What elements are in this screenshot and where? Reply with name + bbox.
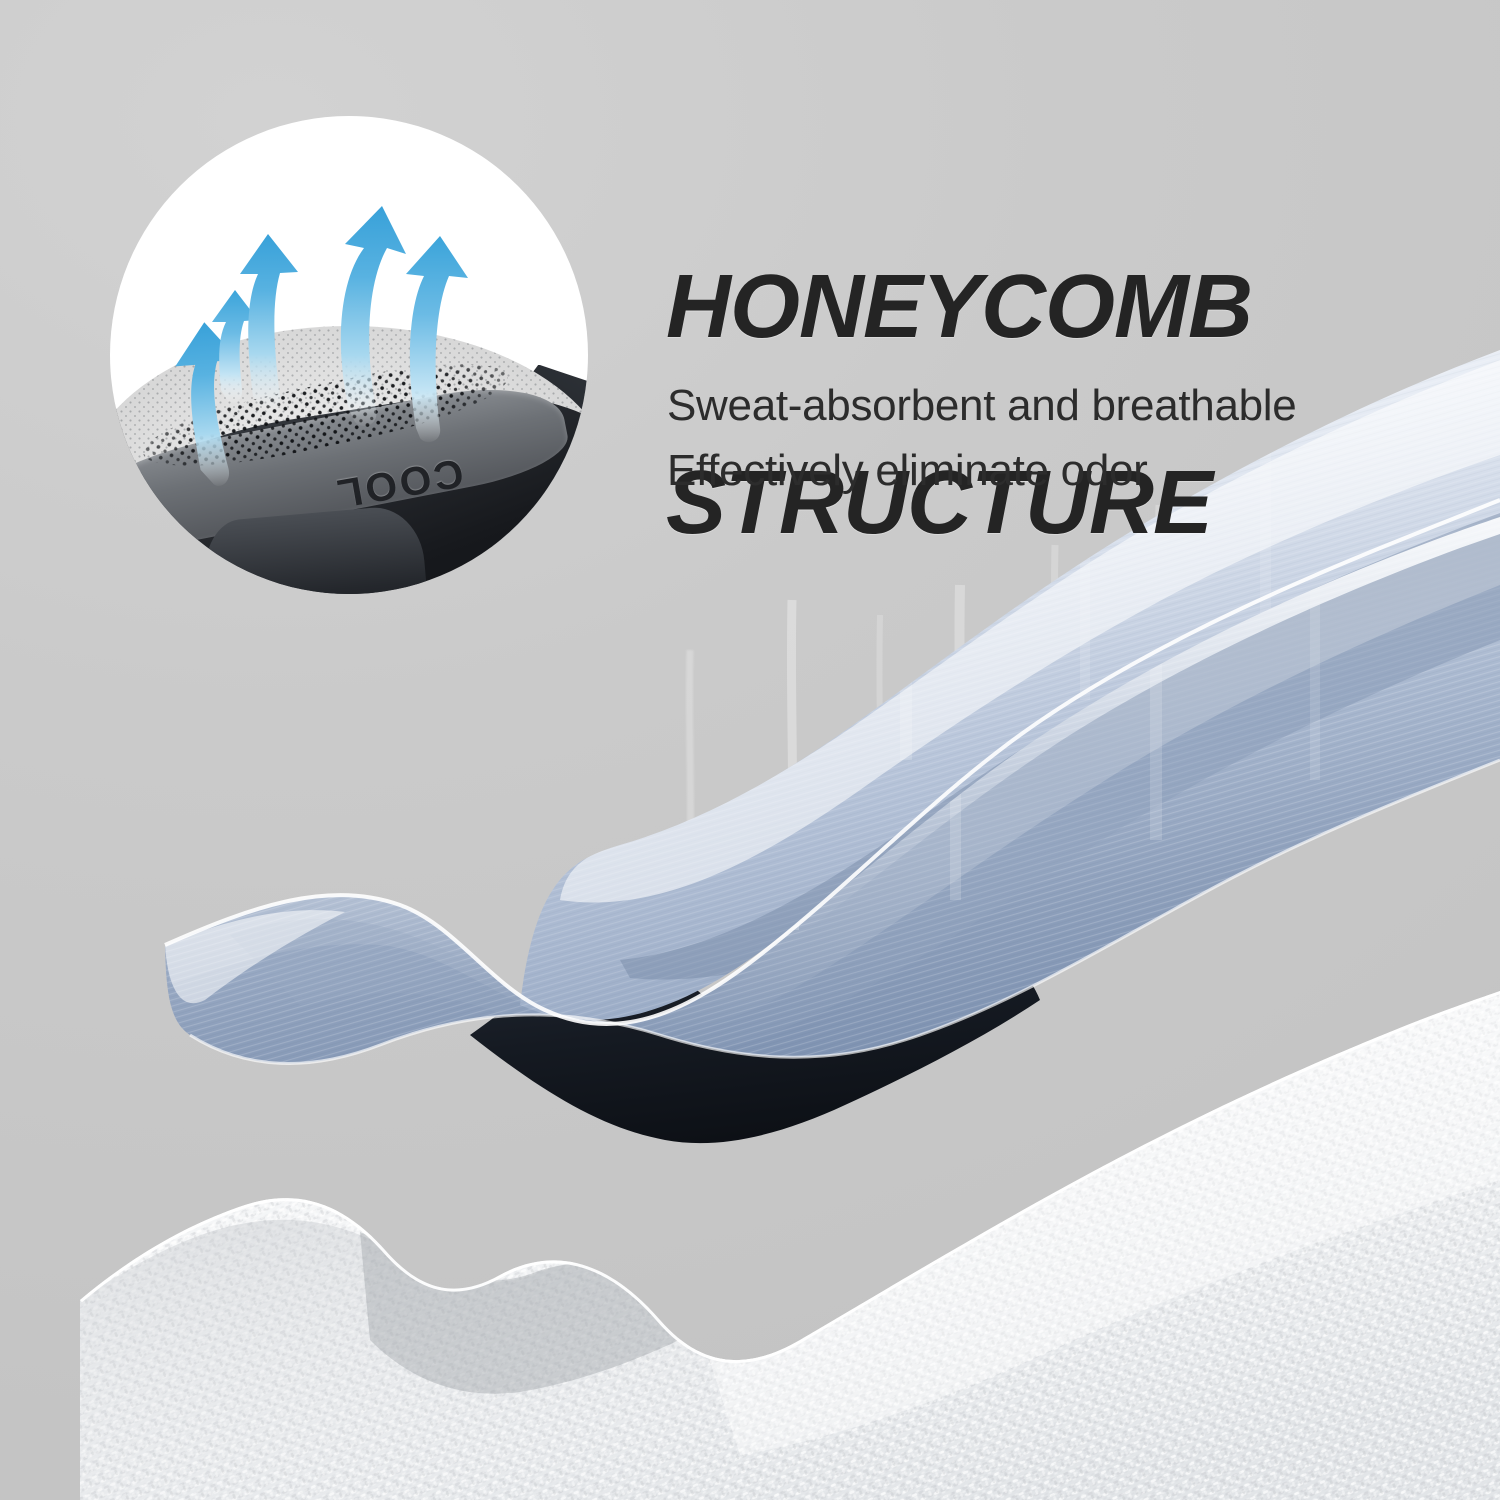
subtitle-line-1: Sweat-absorbent and breathable: [667, 383, 1296, 429]
airflow-arrows: [110, 116, 588, 594]
subtitle-line-2: Effectively eliminate odor: [667, 448, 1148, 494]
product-feature-banner: COOL: [0, 0, 1500, 1500]
headline-line-1: HONEYCOMB: [666, 258, 1426, 356]
airflow-arrow-icon: [341, 206, 406, 426]
airflow-arrow-icon: [406, 236, 468, 442]
airflow-arrow-icon: [240, 234, 298, 411]
product-closeup-inset: COOL: [110, 116, 588, 594]
